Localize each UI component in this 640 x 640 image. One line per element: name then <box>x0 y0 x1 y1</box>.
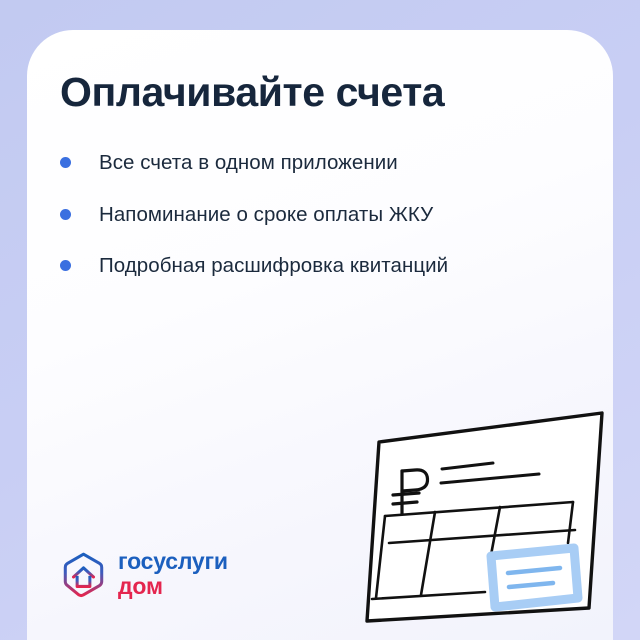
list-item-label: Все счета в одном приложении <box>99 151 398 174</box>
receipt-sheet-icon <box>367 413 602 621</box>
house-hexagon-svg <box>60 551 107 598</box>
feature-list: Все счета в одном приложении Напоминание… <box>60 150 570 305</box>
receipt-illustration-svg <box>345 380 613 630</box>
list-item: Подробная расшифровка квитанций <box>60 253 570 279</box>
bullet-dot-icon <box>60 260 71 271</box>
list-item-label: Напоминание о сроке оплаты ЖКУ <box>99 203 433 226</box>
list-item: Напоминание о сроке оплаты ЖКУ <box>60 202 570 228</box>
list-item-label: Подробная расшифровка квитанций <box>99 254 448 277</box>
promo-card: Оплачивайте счета Все счета в одном прил… <box>27 30 613 640</box>
logo-wordmark: госуслуги дом <box>118 550 228 598</box>
list-item: Все счета в одном приложении <box>60 150 570 176</box>
page-title: Оплачивайте счета <box>60 70 560 115</box>
gosuslugi-dom-logo: госуслуги дом <box>60 550 228 598</box>
logo-line-dom: дом <box>118 575 228 598</box>
bullet-dot-icon <box>60 157 71 168</box>
bullet-dot-icon <box>60 209 71 220</box>
receipt-illustration <box>345 380 613 630</box>
house-hexagon-icon <box>60 551 107 598</box>
logo-line-gosuslugi: госуслуги <box>118 550 228 573</box>
